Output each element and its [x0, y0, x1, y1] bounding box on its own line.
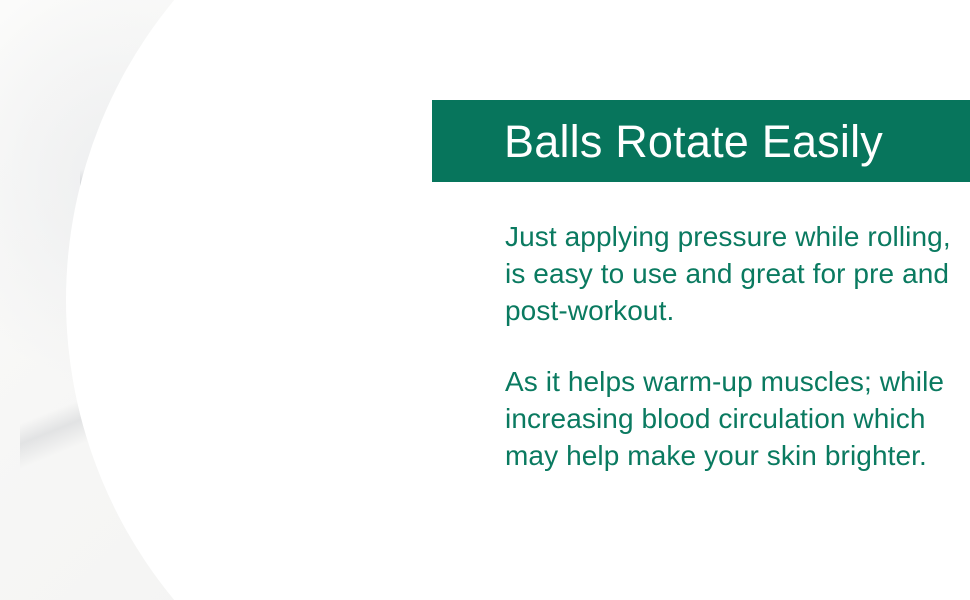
- paragraph-benefit-circulation: As it helps warm-up muscles; while incre…: [505, 363, 955, 474]
- content-panel: Balls Rotate Easily Just applying pressu…: [0, 0, 970, 600]
- headline-banner: Balls Rotate Easily: [432, 100, 970, 182]
- product-feature-banner: Balls Rotate Easily Just applying pressu…: [0, 0, 970, 600]
- paragraph-benefit-usage: Just applying pressure while rolling, is…: [505, 218, 955, 329]
- page-title: Balls Rotate Easily: [432, 119, 883, 164]
- body-copy: Just applying pressure while rolling, is…: [505, 218, 955, 474]
